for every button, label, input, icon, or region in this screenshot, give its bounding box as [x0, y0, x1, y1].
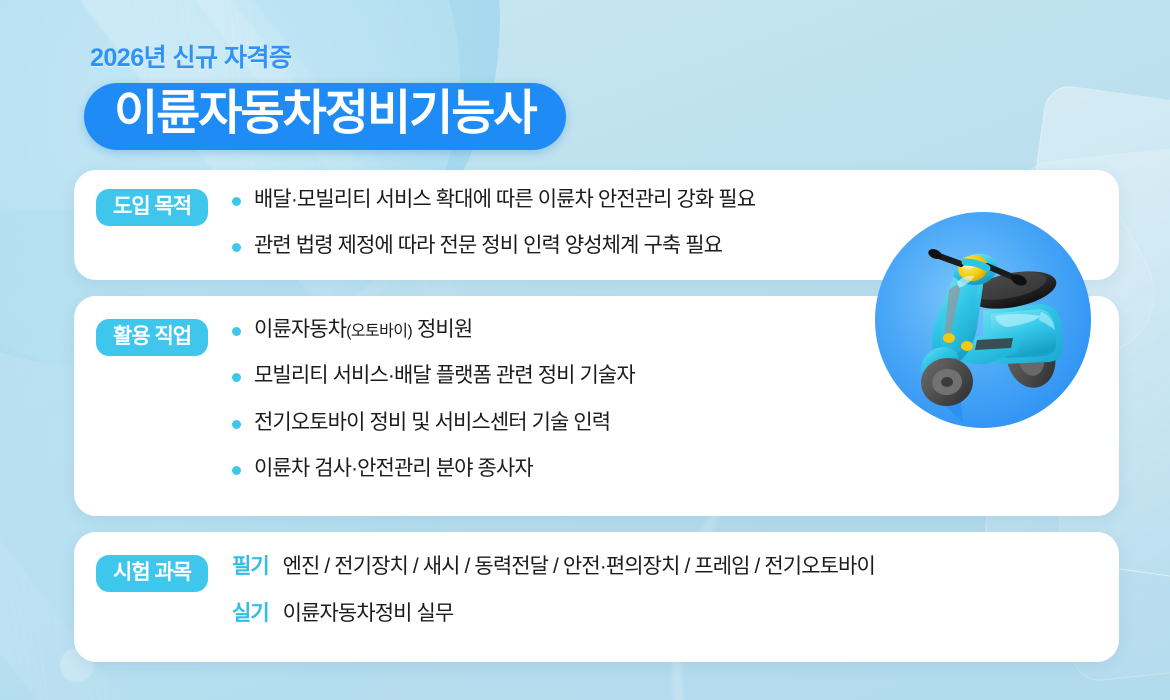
bullet-dot-icon — [232, 243, 241, 252]
card-label-exam-subjects: 시험 과목 — [96, 555, 208, 592]
poster-header: 2026년 신규 자격증 이륜자동차정비기능사 — [84, 38, 566, 150]
exam-row-value: 엔진 / 전기장치 / 새시 / 동력전달 / 안전·편의장치 / 프레임 / … — [283, 550, 875, 580]
speech-bubble — [875, 212, 1091, 428]
bullet-dot-icon — [232, 466, 241, 475]
bullet-dot-icon — [232, 420, 241, 429]
bullet-dot-icon — [232, 373, 241, 382]
list-item-label: 모빌리티 서비스·배달 플랫폼 관련 정비 기술자 — [254, 362, 635, 390]
exam-row-label: 실기 — [232, 597, 269, 627]
list-item-label: 이륜차 검사·안전관리 분야 종사자 — [254, 455, 533, 483]
bullet-dot-icon — [232, 197, 241, 206]
list-item-tail: 정비원 — [412, 318, 472, 341]
bullet-dot-icon — [232, 327, 241, 336]
list-item-label: 이륜자동차(오토바이) 정비원 — [254, 316, 472, 344]
list-item-label: 관련 법령 제정에 따라 전문 정비 인력 양성체계 구축 필요 — [254, 232, 722, 260]
exam-row-value: 이륜자동차정비 실무 — [283, 597, 454, 627]
list-item-label: 배달·모빌리티 서비스 확대에 따른 이륜차 안전관리 강화 필요 — [254, 186, 755, 214]
list-item: 이륜차 검사·안전관리 분야 종사자 — [232, 455, 1095, 483]
eyebrow-text: 2026년 신규 자격증 — [90, 38, 566, 74]
list-item: 배달·모빌리티 서비스 확대에 따른 이륜차 안전관리 강화 필요 — [232, 186, 1095, 214]
exam-row-practical: 실기 이륜자동차정비 실무 — [232, 597, 1095, 627]
list-item-main: 이륜자동차 — [254, 318, 346, 341]
card-body-exam-subjects: 필기 엔진 / 전기장치 / 새시 / 동력전달 / 안전·편의장치 / 프레임… — [232, 550, 1095, 627]
list-item-annotation: (오토바이) — [346, 323, 412, 340]
scooter-illustration — [891, 232, 1077, 412]
card-exam-subjects: 시험 과목 필기 엔진 / 전기장치 / 새시 / 동력전달 / 안전·편의장치… — [74, 532, 1119, 662]
exam-row-label: 필기 — [232, 550, 269, 580]
card-label-purpose: 도입 목적 — [96, 189, 208, 226]
list-item-label: 전기오토바이 정비 및 서비스센터 기술 인력 — [254, 409, 610, 437]
exam-row-written: 필기 엔진 / 전기장치 / 새시 / 동력전달 / 안전·편의장치 / 프레임… — [232, 550, 1095, 580]
infographic-poster: 2026년 신규 자격증 이륜자동차정비기능사 도입 목적 배달·모빌리티 서비… — [0, 0, 1170, 700]
card-label-occupations: 활용 직업 — [96, 319, 208, 356]
page-title: 이륜자동차정비기능사 — [84, 83, 566, 150]
